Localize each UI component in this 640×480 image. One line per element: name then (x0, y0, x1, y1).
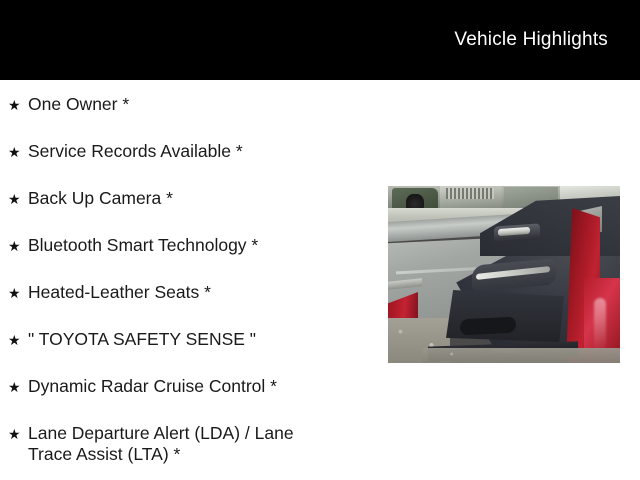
list-item: ★ " TOYOTA SAFETY SENSE " (0, 315, 380, 362)
list-item: ★ Service Records Available * (0, 127, 380, 174)
list-item: ★ Back Up Camera * (0, 174, 380, 221)
vehicle-highlights-list: ★ One Owner * ★ Service Records Availabl… (0, 80, 380, 461)
list-item: ★ One Owner * (0, 80, 380, 127)
vehicle-photo (388, 186, 620, 363)
list-item-label: Heated-Leather Seats * (28, 268, 380, 303)
list-item: ★ Dynamic Radar Cruise Control * (0, 362, 380, 409)
star-bullet-icon: ★ (8, 427, 22, 441)
list-item-label: Service Records Available * (28, 127, 380, 162)
header-band: Vehicle Highlights (0, 0, 640, 80)
photo-body-highlight (594, 298, 606, 350)
star-bullet-icon: ★ (8, 192, 22, 206)
photo-ground-gravel (422, 348, 620, 363)
list-item-label: Back Up Camera * (28, 174, 380, 209)
page-title: Vehicle Highlights (454, 29, 608, 51)
list-item-label: Bluetooth Smart Technology * (28, 221, 380, 256)
list-item-label: Lane Departure Alert (LDA) / Lane Trace … (28, 409, 380, 465)
list-item-label: One Owner * (28, 80, 380, 115)
list-item-label: Dynamic Radar Cruise Control * (28, 362, 380, 397)
photo-background-grille (446, 188, 494, 199)
star-bullet-icon: ★ (8, 333, 22, 347)
star-bullet-icon: ★ (8, 98, 22, 112)
list-item: ★ Lane Departure Alert (LDA) / Lane Trac… (0, 409, 380, 461)
vehicle-highlights-page: Vehicle Highlights ★ One Owner * ★ Servi… (0, 0, 640, 480)
list-item-label: " TOYOTA SAFETY SENSE " (28, 315, 380, 350)
star-bullet-icon: ★ (8, 145, 22, 159)
star-bullet-icon: ★ (8, 239, 22, 253)
photo-door-pocket-opening (460, 317, 516, 336)
star-bullet-icon: ★ (8, 286, 22, 300)
list-item: ★ Bluetooth Smart Technology * (0, 221, 380, 268)
star-bullet-icon: ★ (8, 380, 22, 394)
list-item: ★ Heated-Leather Seats * (0, 268, 380, 315)
